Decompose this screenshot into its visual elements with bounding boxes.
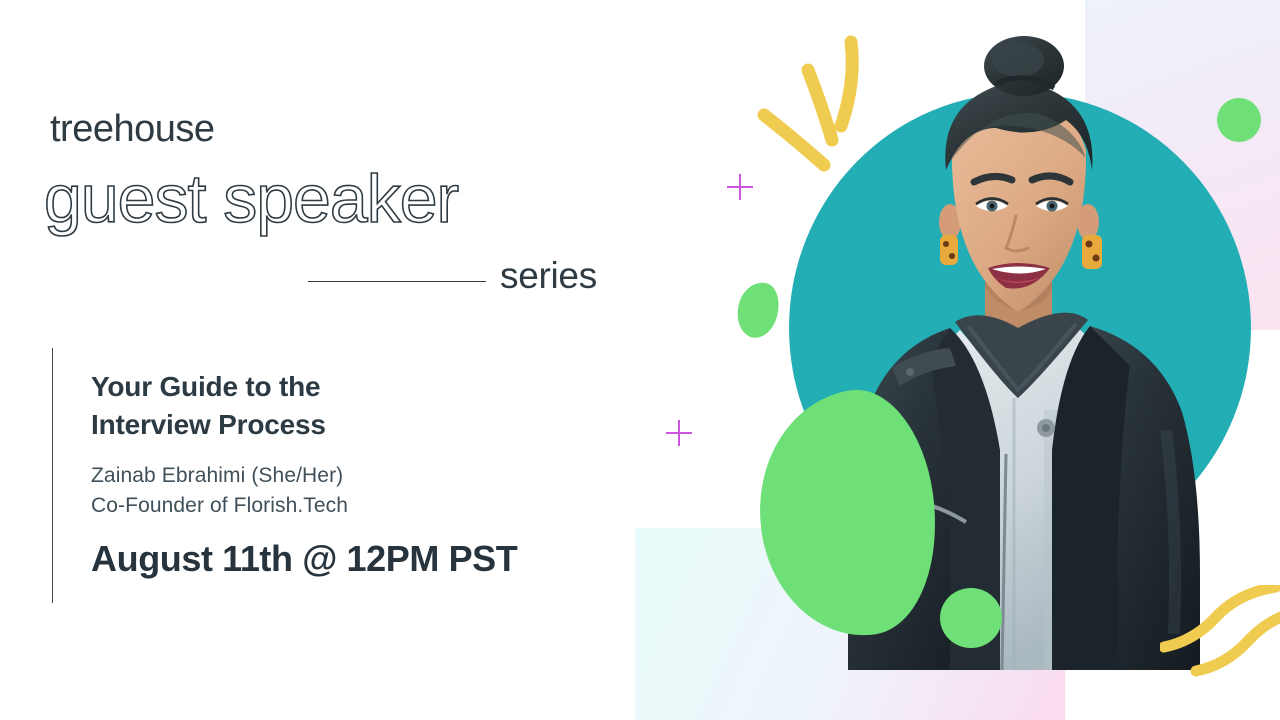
yellow-brush-strokes-top <box>740 30 880 200</box>
series-divider-rule <box>308 281 486 282</box>
talk-title: Your Guide to the Interview Process <box>91 368 631 445</box>
speaker-name: Zainab Ebrahimi (She/Her) <box>91 461 631 491</box>
plus-mark-icon-middle <box>666 420 692 446</box>
brand-wordmark: treehouse <box>50 110 215 148</box>
plus-mark-icon-top <box>727 174 753 200</box>
series-label: series <box>500 257 597 294</box>
speaker-role: Co-Founder of Florish.Tech <box>91 491 631 521</box>
talk-info-block: Your Guide to the Interview Process Zain… <box>91 368 631 578</box>
promo-slide: treehouse guest speaker series Your Guid… <box>0 0 1280 720</box>
yellow-brush-strokes-bottom <box>1160 585 1280 690</box>
green-blob-small-shape <box>732 278 784 342</box>
green-circle-bottom-shape <box>940 588 1002 648</box>
series-outline-title-text: guest speaker <box>44 161 459 237</box>
event-datetime: August 11th @ 12PM PST <box>91 539 631 579</box>
info-vertical-rule <box>52 348 53 603</box>
series-outline-title: guest speaker <box>44 160 644 240</box>
